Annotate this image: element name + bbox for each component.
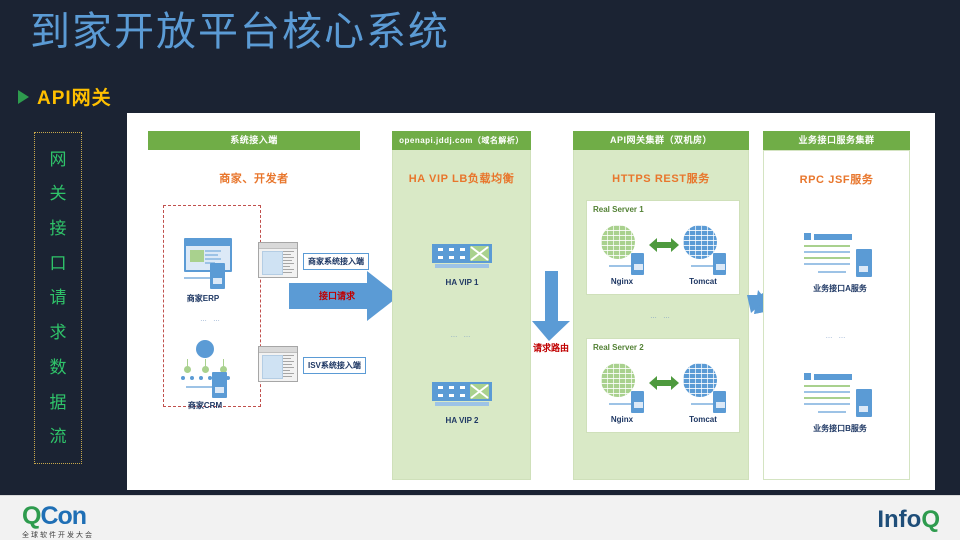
- nginx-connector: [609, 265, 631, 267]
- erp-server-icon: [210, 263, 225, 289]
- tomcat-server-icon: [713, 253, 726, 275]
- footer: QCon 全球软件开发大会 InfoQ: [0, 495, 960, 540]
- side-label-char: 数: [50, 359, 67, 376]
- real-server-1-title: Real Server 1: [593, 205, 644, 214]
- node-label-ha-vip-1: HA VIP 1: [427, 278, 497, 287]
- column-api-gateway: API网关集群（双机房） HTTPS REST服务 Real Server 1 …: [573, 131, 749, 480]
- column-domain-resolution: openapi.jddj.com（域名解析） HA VIP LB负载均衡 HA …: [392, 131, 531, 480]
- column-business-interface: 业务接口服务集群 RPC JSF服务 业务接口A服务 … …: [763, 131, 910, 480]
- column-subheader-lb: HA VIP LB负载均衡: [393, 170, 530, 186]
- crm-server-icon: [212, 372, 227, 398]
- side-label-char: 流: [50, 428, 67, 445]
- node-label-nginx: Nginx: [599, 277, 645, 286]
- separator-dots: … …: [393, 332, 530, 339]
- browser-window-icon: [258, 346, 298, 382]
- network-switch-icon: [432, 382, 492, 413]
- double-arrow-icon: [649, 237, 679, 258]
- document-server-icon: [804, 373, 882, 413]
- flow-label-request-routing: 请求路由: [533, 341, 569, 354]
- tag-isv-access: ISV系统接入端: [303, 357, 366, 374]
- qcon-logo-subtitle: 全球软件开发大会: [22, 530, 94, 540]
- green-globe-icon: [601, 363, 635, 397]
- column-header-system-access: 系统接入端: [148, 131, 360, 150]
- column-body-domain-resolution: HA VIP LB负载均衡 HA VIP 1 … …: [392, 150, 531, 480]
- subtitle-row: API网关: [18, 83, 112, 110]
- qcon-logo-con: Con: [40, 502, 86, 530]
- blue-globe-icon: [683, 363, 717, 397]
- infoq-logo: InfoQ: [877, 508, 940, 532]
- green-globe-icon: [601, 225, 635, 259]
- separator-dots: … …: [166, 316, 256, 323]
- crm-connector: [186, 386, 214, 388]
- nginx-server-icon: [631, 253, 644, 275]
- diagram-panel: 系统接入端 商家、开发者 商家ERP … …: [127, 113, 935, 490]
- node-label-tomcat: Tomcat: [679, 277, 727, 286]
- tomcat-connector: [691, 403, 713, 405]
- infoq-logo-q: Q: [921, 506, 940, 533]
- column-header-domain-resolution: openapi.jddj.com（域名解析）: [392, 131, 531, 150]
- nginx-server-icon: [631, 391, 644, 413]
- real-server-2-box: Real Server 2 Nginx Tomcat: [586, 338, 740, 433]
- separator-dots: … …: [764, 333, 909, 340]
- document-server-icon: [804, 233, 882, 273]
- node-label-nginx: Nginx: [599, 415, 645, 424]
- triangle-right-icon: [18, 90, 29, 104]
- node-label-ha-vip-2: HA VIP 2: [427, 416, 497, 425]
- node-label-service-b: 业务接口B服务: [790, 423, 890, 434]
- network-switch-icon: [432, 244, 492, 275]
- side-label-char: 接: [50, 220, 67, 237]
- tomcat-server-icon: [713, 391, 726, 413]
- side-label-char: 请: [50, 289, 67, 306]
- side-label-char: 求: [50, 324, 67, 341]
- side-label-char: 关: [50, 185, 67, 202]
- column-header-business-interface: 业务接口服务集群: [763, 131, 910, 150]
- column-subheader-https: HTTPS REST服务: [574, 170, 748, 186]
- node-label-service-a: 业务接口A服务: [790, 283, 890, 294]
- real-server-1-box: Real Server 1 Nginx Tomcat: [586, 200, 740, 295]
- erp-connector: [184, 277, 212, 279]
- flow-label-interface-request: 接口请求: [319, 289, 355, 302]
- side-label-char: 口: [50, 255, 67, 272]
- node-label-shangjia-crm: 商家CRM: [170, 400, 240, 411]
- column-subheader-system-access: 商家、开发者: [148, 170, 360, 186]
- column-subheader-rpc-jsf: RPC JSF服务: [764, 171, 909, 187]
- node-label-tomcat: Tomcat: [679, 415, 727, 424]
- real-server-2-title: Real Server 2: [593, 343, 644, 352]
- column-body-api-gateway: HTTPS REST服务 Real Server 1 Nginx Tomcat …: [573, 150, 749, 480]
- nginx-connector: [609, 403, 631, 405]
- blue-globe-icon: [683, 225, 717, 259]
- tomcat-connector: [691, 265, 713, 267]
- side-vertical-label: 网 关 接 口 请 求 数 据 流: [34, 132, 82, 464]
- double-arrow-icon: [649, 375, 679, 396]
- side-label-char: 据: [50, 394, 67, 411]
- tag-merchant-access: 商家系统接入端: [303, 253, 369, 270]
- node-label-shangjia-erp: 商家ERP: [168, 293, 238, 304]
- side-label-char: 网: [50, 151, 67, 168]
- qcon-logo: QCon 全球软件开发大会: [22, 504, 94, 540]
- separator-dots: … …: [574, 313, 748, 320]
- subtitle-text: API网关: [37, 83, 112, 110]
- column-header-api-gateway: API网关集群（双机房）: [573, 131, 749, 150]
- page-title: 到家开放平台核心系统: [30, 8, 450, 56]
- arrow-request-routing: [532, 271, 572, 346]
- column-body-business-interface: RPC JSF服务 业务接口A服务 … …: [763, 150, 910, 480]
- qcon-logo-q: Q: [22, 502, 40, 530]
- infoq-logo-info: Info: [877, 506, 921, 533]
